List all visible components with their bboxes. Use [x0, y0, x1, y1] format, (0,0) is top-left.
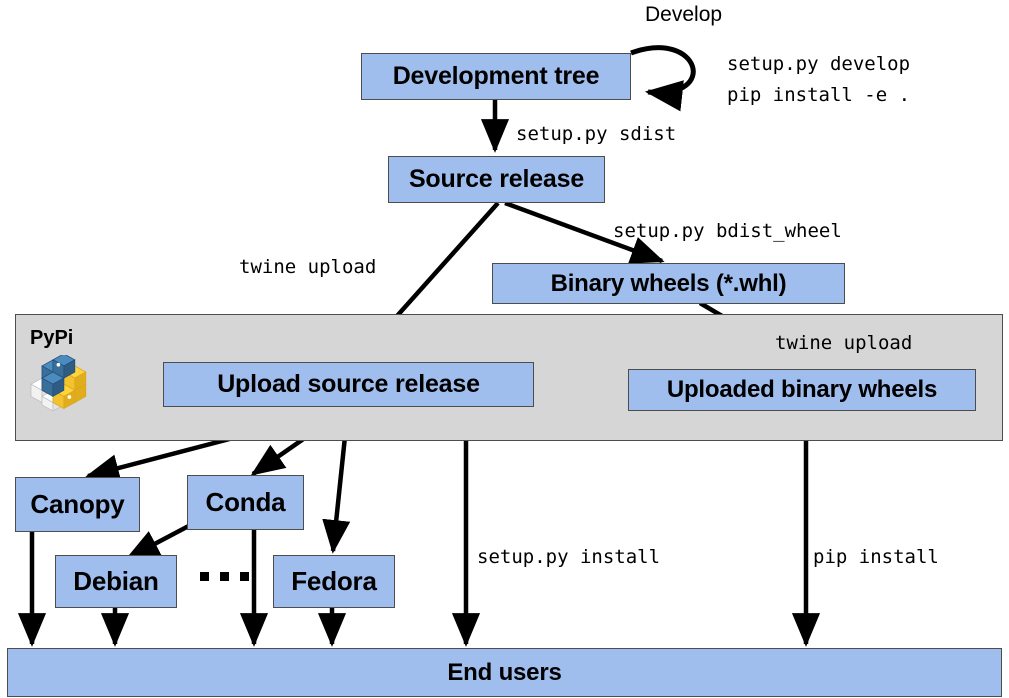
label-setup-py-develop: setup.py develop — [727, 53, 910, 75]
node-uploaded-binary-wheels-label: Uploaded binary wheels — [667, 376, 937, 404]
node-binary-wheels[interactable]: Binary wheels (*.whl) — [492, 263, 845, 304]
label-pip-install-editable: pip install -e . — [727, 84, 910, 106]
node-binary-wheels-label: Binary wheels (*.whl) — [551, 270, 787, 298]
edge-develop-selfloop — [631, 48, 693, 93]
label-setup-py-sdist: setup.py sdist — [516, 123, 676, 145]
node-canopy-label: Canopy — [30, 489, 124, 520]
pypi-group-label: PyPi — [30, 327, 73, 350]
node-fedora[interactable]: Fedora — [273, 555, 395, 608]
label-develop: Develop — [645, 3, 722, 27]
node-conda[interactable]: Conda — [187, 475, 304, 530]
node-development-tree[interactable]: Development tree — [361, 53, 631, 100]
ellipsis-dot — [240, 572, 249, 581]
label-twine-upload-source: twine upload — [239, 256, 376, 278]
node-development-tree-label: Development tree — [393, 62, 600, 91]
node-end-users[interactable]: End users — [7, 648, 1002, 697]
node-end-users-label: End users — [447, 659, 561, 687]
node-fedora-label: Fedora — [291, 566, 376, 597]
label-pip-install: pip install — [813, 546, 939, 568]
ellipsis-dot — [200, 572, 209, 581]
node-source-release[interactable]: Source release — [388, 156, 605, 203]
label-setup-py-install: setup.py install — [477, 546, 660, 568]
node-canopy[interactable]: Canopy — [15, 477, 140, 532]
ellipsis-dot — [220, 572, 229, 581]
label-twine-upload-wheels: twine upload — [775, 332, 912, 354]
node-upload-source-release[interactable]: Upload source release — [163, 362, 534, 407]
node-source-release-label: Source release — [409, 165, 584, 194]
node-uploaded-binary-wheels[interactable]: Uploaded binary wheels — [628, 369, 976, 411]
node-upload-source-release-label: Upload source release — [217, 370, 480, 399]
node-conda-label: Conda — [206, 487, 286, 518]
label-setup-py-bdist-wheel: setup.py bdist_wheel — [613, 220, 842, 242]
node-debian-label: Debian — [73, 566, 158, 597]
node-debian[interactable]: Debian — [55, 555, 177, 608]
packaging-flow-diagram: PyPi — [0, 0, 1009, 698]
python-cubes-logo — [28, 355, 90, 411]
ellipsis-indicator — [200, 572, 249, 581]
